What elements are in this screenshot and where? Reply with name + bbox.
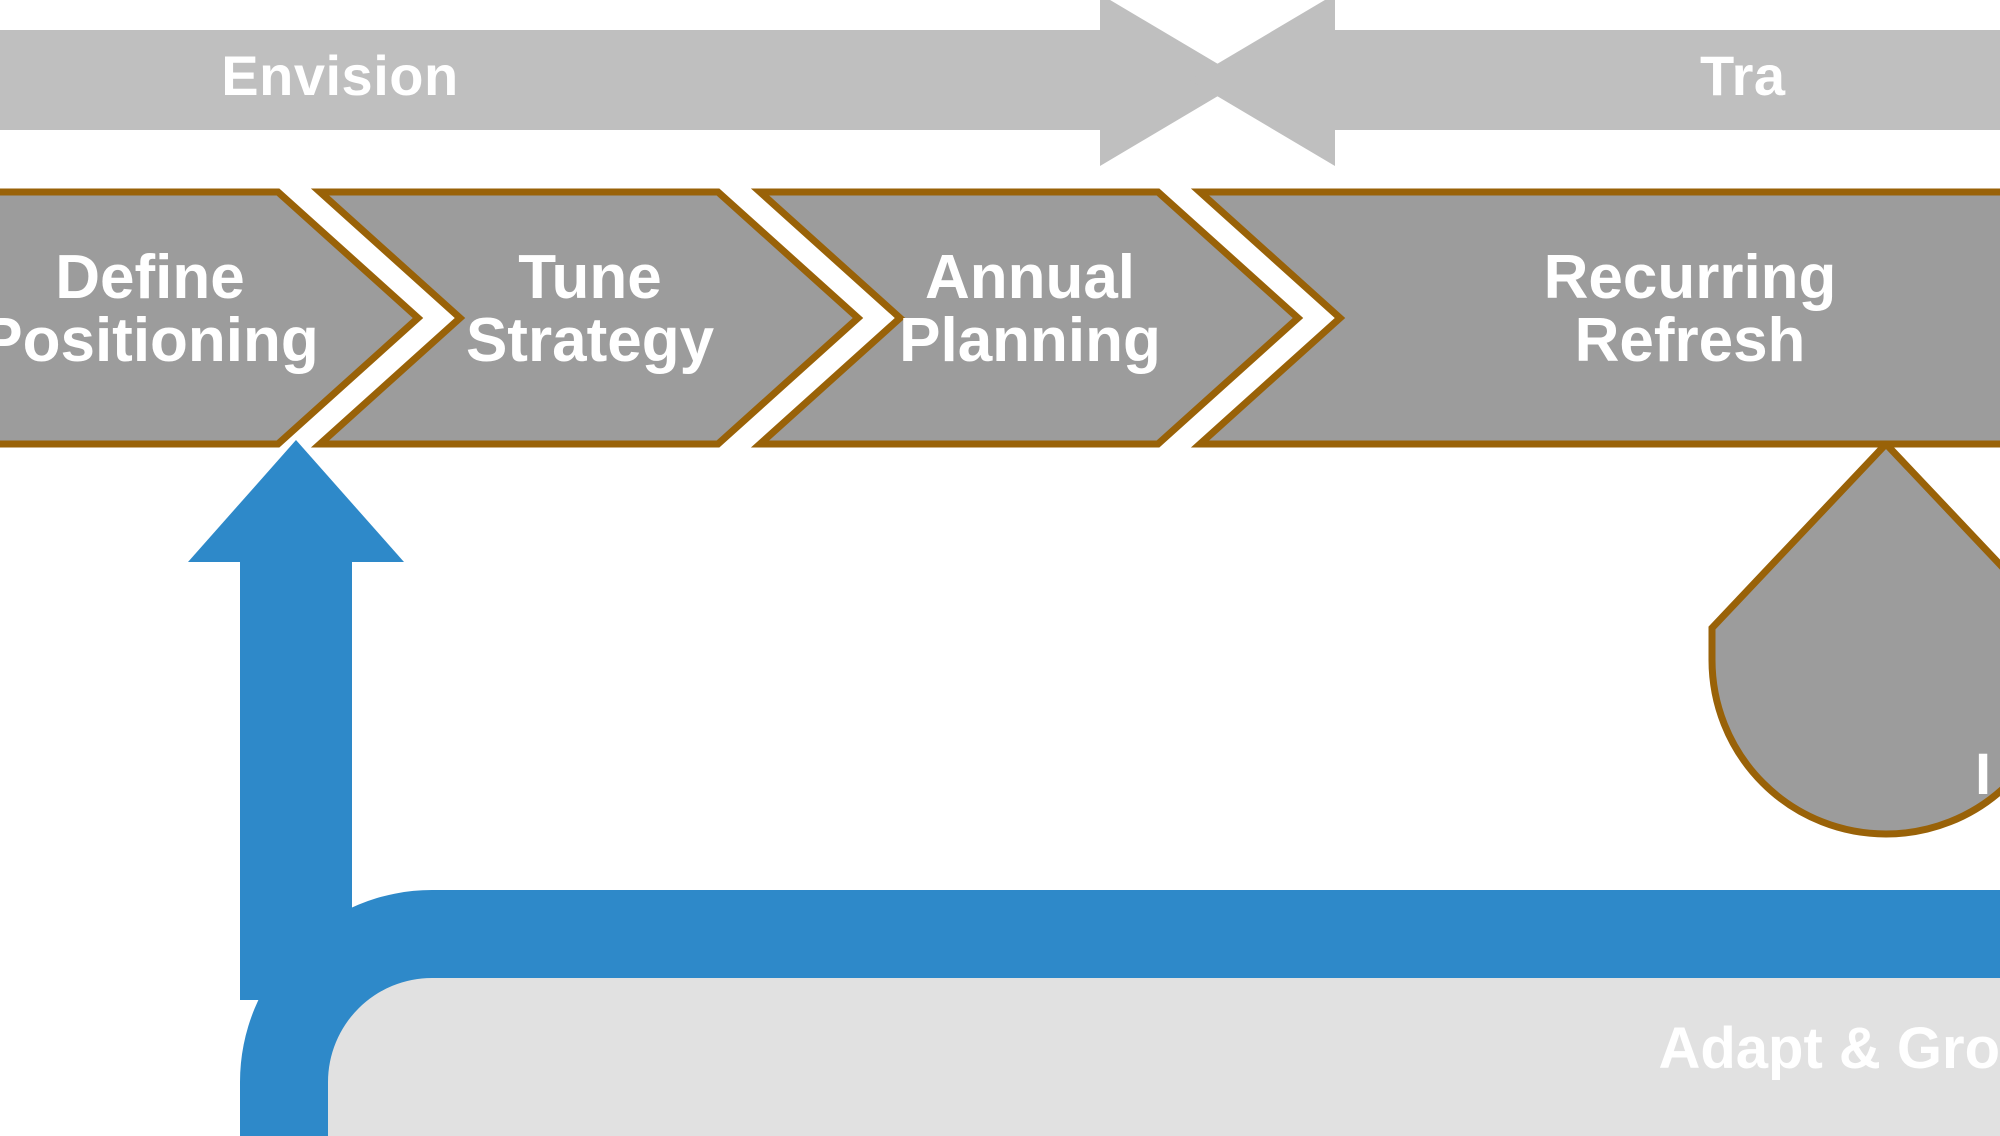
- diagram-canvas: Envision Tra I DefinePositioning TuneStr…: [0, 0, 2000, 1136]
- feedback-loop-layer: [0, 0, 2000, 1136]
- feedback-arrowhead-up-icon: [188, 440, 404, 562]
- feedback-arrow-shaft: [240, 560, 352, 1000]
- feedback-loop-shadow: [310, 978, 2000, 1136]
